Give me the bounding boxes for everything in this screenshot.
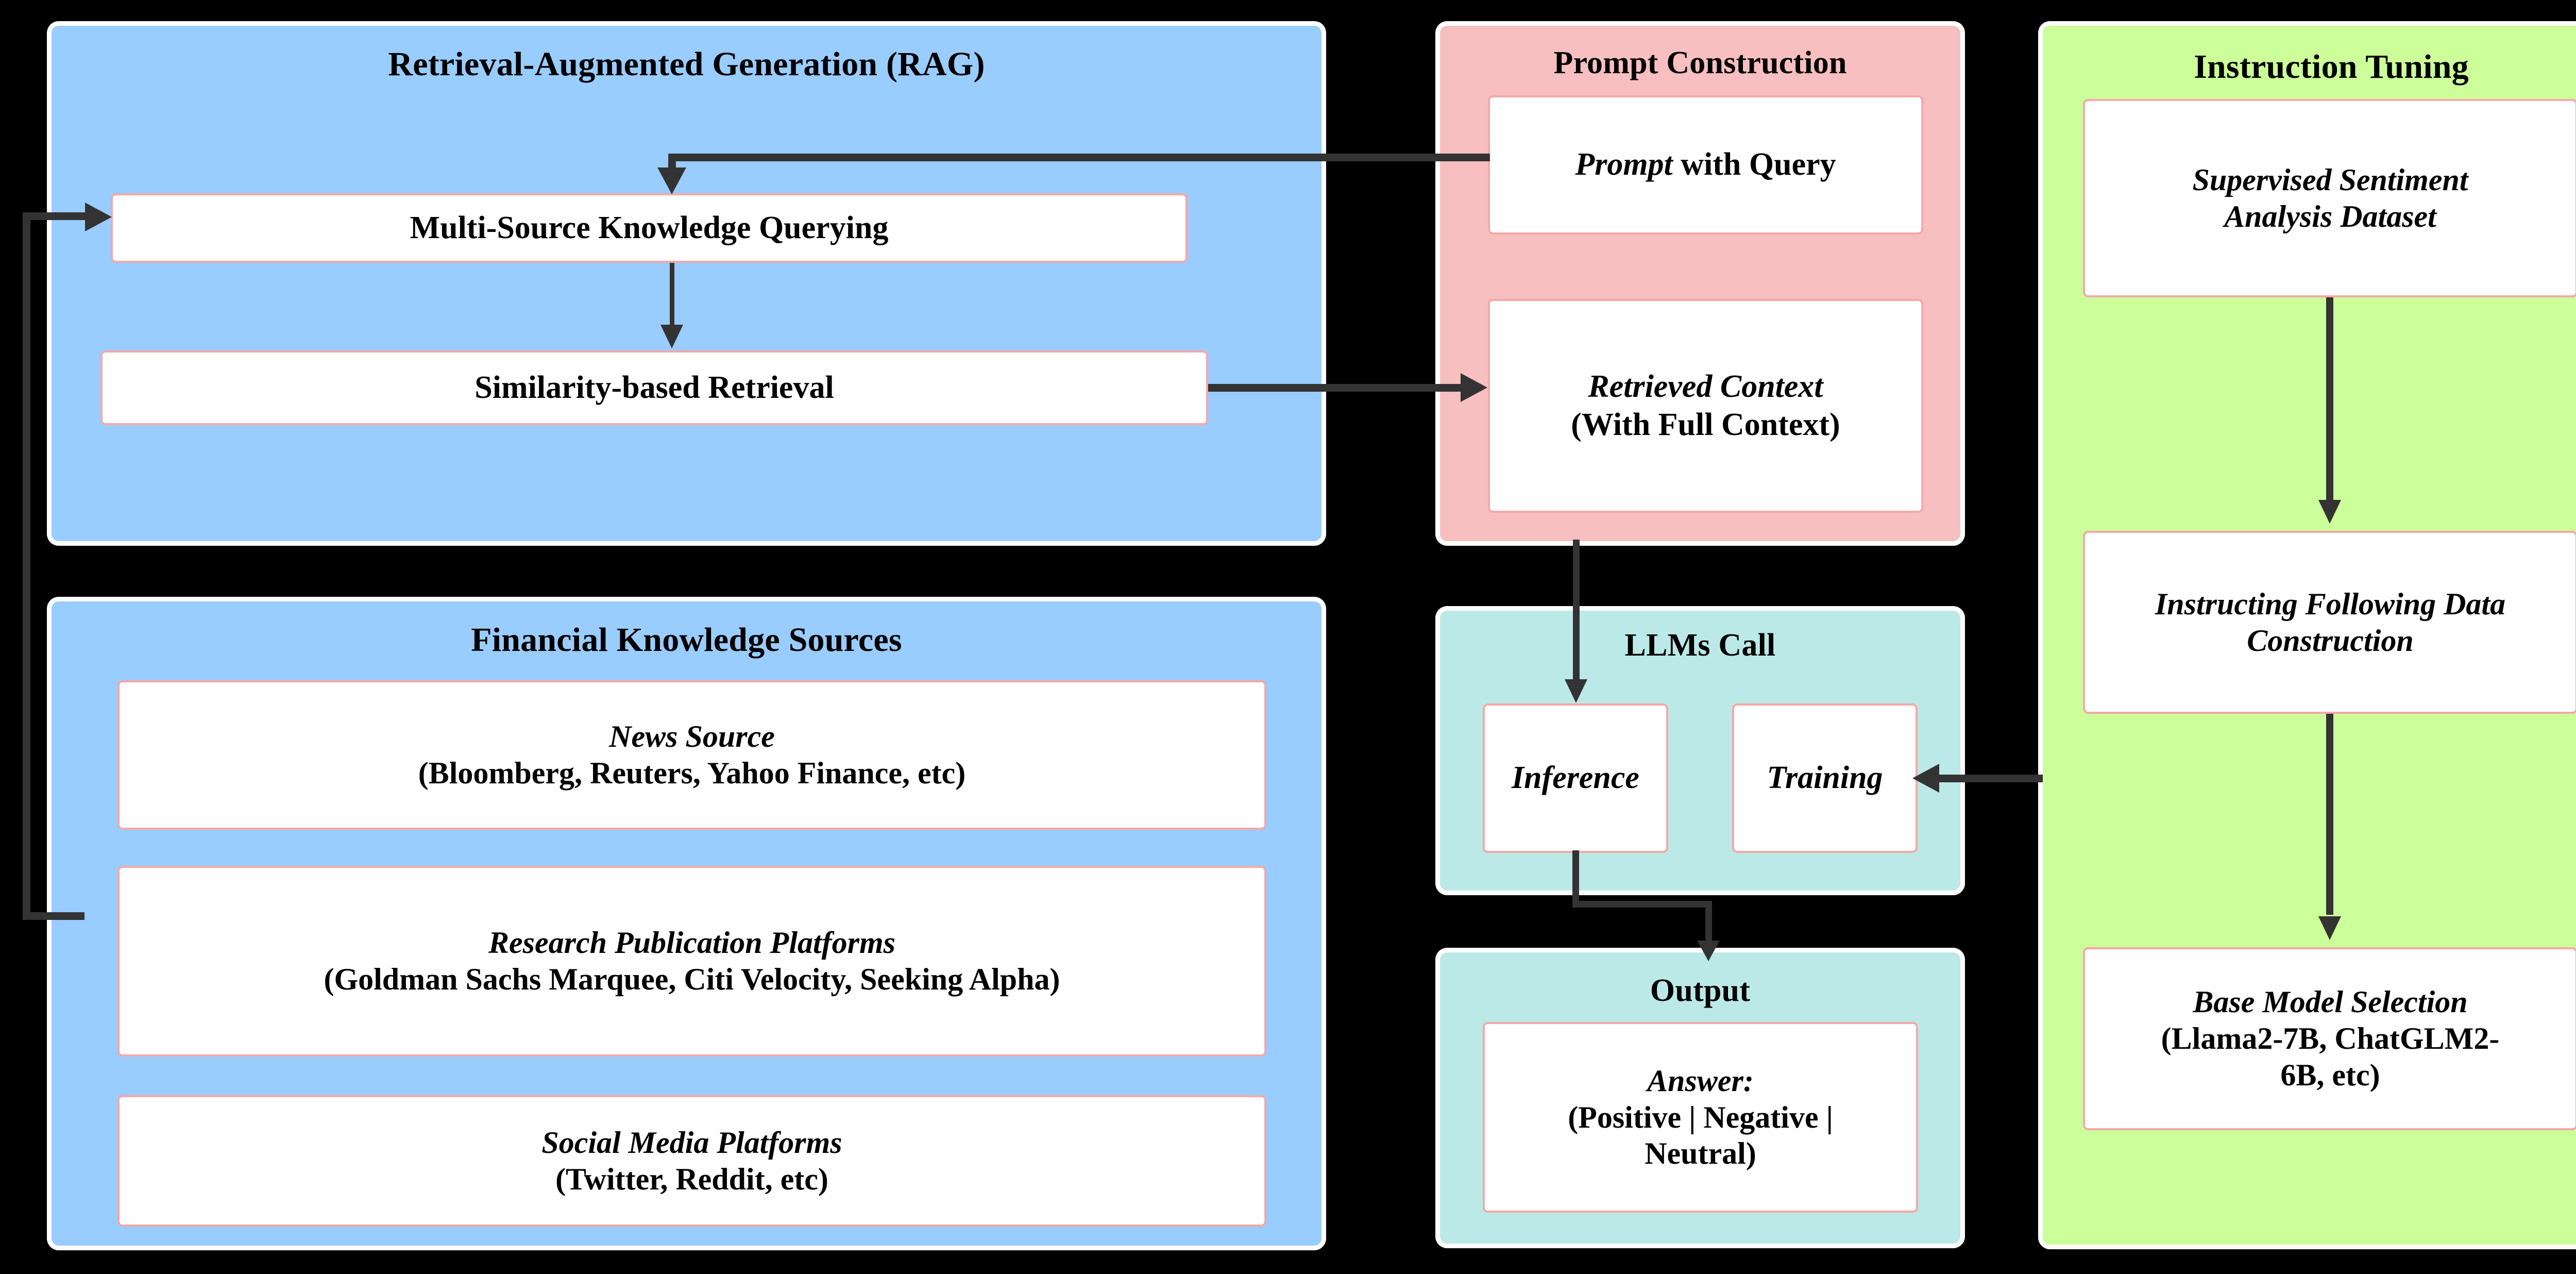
panel-llms-title: LLMs Call xyxy=(1440,629,1960,662)
diagram-canvas: Retrieval-Augmented Generation (RAG) Mul… xyxy=(0,0,2576,1274)
node-answer[interactable]: Answer: (Positive | Negative | Neutral) xyxy=(1483,1022,1918,1213)
node-detail: (With Full Context) xyxy=(1571,406,1840,444)
connector-tuning-to-training xyxy=(1937,775,2043,782)
node-detail: with Query xyxy=(1673,147,1836,182)
node-emphasis: Research Publication Platforms xyxy=(488,925,895,961)
node-line3: 6B, etc) xyxy=(2280,1057,2380,1094)
panel-sources-title: Financial Knowledge Sources xyxy=(52,622,1321,658)
node-label: Multi-Source Knowledge Querying xyxy=(410,209,889,247)
panel-rag: Retrieval-Augmented Generation (RAG) xyxy=(52,26,1321,541)
node-training[interactable]: Training xyxy=(1732,703,1918,853)
arrowhead-into-retrieved-context xyxy=(1461,373,1487,402)
arrowhead-into-inference xyxy=(1565,679,1587,703)
node-base-model-selection[interactable]: Base Model Selection (Llama2-7B, ChatGLM… xyxy=(2083,947,2576,1130)
arrowhead-into-construction xyxy=(2318,500,2341,524)
panel-tuning-title: Instruction Tuning xyxy=(2043,49,2576,85)
arrowhead-into-output xyxy=(1697,941,1720,961)
panel-output-title: Output xyxy=(1440,974,1960,1008)
connector-prompt-to-rag-horizontal xyxy=(668,154,1490,161)
panel-rag-title: Retrieval-Augmented Generation (RAG) xyxy=(52,46,1321,82)
node-detail: (Bloomberg, Reuters, Yahoo Finance, etc) xyxy=(418,755,966,792)
node-line3: Neutral) xyxy=(1645,1135,1756,1172)
connector-multisource-to-similarity xyxy=(670,263,674,330)
connector-similarity-to-retrieved-context xyxy=(1208,384,1461,392)
panel-prompt-title: Prompt Construction xyxy=(1440,46,1960,80)
node-label: Training xyxy=(1767,759,1883,797)
connector-construction-to-base-model xyxy=(2326,714,2333,915)
connector-inference-right xyxy=(1572,901,1711,908)
arrowhead-into-base-model xyxy=(2318,916,2341,940)
node-news-source[interactable]: News Source (Bloomberg, Reuters, Yahoo F… xyxy=(117,680,1266,830)
node-supervised-sentiment-analysis-dataset[interactable]: Supervised Sentiment Analysis Dataset xyxy=(2083,99,2576,297)
node-line1: Instructing Following Data xyxy=(2155,586,2505,623)
node-social-media-platforms[interactable]: Social Media Platforms (Twitter, Reddit,… xyxy=(117,1095,1266,1227)
node-label: Similarity-based Retrieval xyxy=(474,369,834,407)
node-emphasis: Base Model Selection xyxy=(2193,984,2467,1020)
node-instructing-following-data-construction[interactable]: Instructing Following Data Construction xyxy=(2083,531,2576,714)
arrowhead-into-multi-source xyxy=(657,167,686,194)
node-emphasis: Social Media Platforms xyxy=(541,1125,842,1161)
connector-inference-to-output-down xyxy=(1705,901,1712,945)
node-emphasis: Retrieved Context xyxy=(1588,368,1823,406)
arrowhead-into-multi-source-left xyxy=(85,203,112,231)
node-line1: Supervised Sentiment xyxy=(2192,162,2468,198)
node-prompt-with-query[interactable]: Prompt with Query xyxy=(1488,95,1923,234)
node-retrieved-context[interactable]: Retrieved Context (With Full Context) xyxy=(1488,299,1923,513)
node-line2: Construction xyxy=(2247,623,2413,659)
node-research-publication-platforms[interactable]: Research Publication Platforms (Goldman … xyxy=(117,866,1266,1057)
node-detail: (Twitter, Reddit, etc) xyxy=(555,1161,828,1198)
node-emphasis: Prompt xyxy=(1575,147,1672,182)
node-label: Inference xyxy=(1512,759,1639,797)
connector-feedback-bottom xyxy=(23,912,84,920)
arrowhead-into-training xyxy=(1912,764,1939,793)
arrowhead-into-similarity xyxy=(660,325,683,348)
node-line2: (Positive | Negative | xyxy=(1568,1099,1833,1136)
node-line2: Analysis Dataset xyxy=(2224,198,2436,235)
connector-prompt-to-inference xyxy=(1573,540,1580,681)
node-detail: (Goldman Sachs Marquee, Citi Velocity, S… xyxy=(324,961,1060,998)
connector-feedback-top xyxy=(23,212,90,220)
connector-inference-down xyxy=(1572,850,1579,907)
node-line2: (Llama2-7B, ChatGLM2- xyxy=(2161,1020,2500,1057)
node-emphasis: Answer: xyxy=(1647,1063,1754,1099)
node-multi-source-knowledge-querying[interactable]: Multi-Source Knowledge Querying xyxy=(111,193,1188,263)
connector-dataset-to-construction xyxy=(2326,297,2333,504)
node-similarity-based-retrieval[interactable]: Similarity-based Retrieval xyxy=(100,350,1208,425)
node-emphasis: News Source xyxy=(609,718,775,755)
connector-feedback-vertical xyxy=(23,212,30,920)
node-inference[interactable]: Inference xyxy=(1483,703,1668,853)
